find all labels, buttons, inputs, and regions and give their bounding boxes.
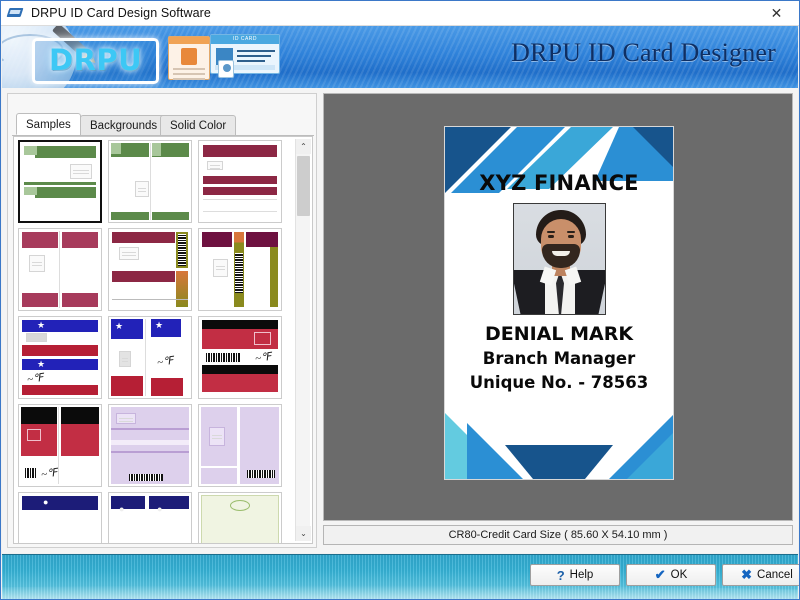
drpu-logo-text: DRPU bbox=[49, 43, 142, 77]
template-browser-panel: Samples Backgrounds Solid Color bbox=[7, 93, 317, 548]
question-mark-icon: ? bbox=[557, 568, 565, 583]
list-item[interactable]: ~℉ bbox=[18, 404, 102, 487]
orange-id-card-icon bbox=[168, 36, 210, 80]
app-banner: DRPU ID CARD DRPU ID Card Designer bbox=[2, 26, 798, 88]
drpu-logo: DRPU bbox=[32, 38, 159, 84]
window-title: DRPU ID Card Design Software bbox=[31, 6, 211, 20]
template-thumbnail-list[interactable]: ★ ★ ~℉ ★ ★ ~℉ bbox=[13, 136, 313, 544]
help-button[interactable]: ? Help bbox=[530, 564, 620, 586]
list-item[interactable] bbox=[108, 228, 192, 311]
title-bar: DRPU ID Card Design Software ✕ bbox=[1, 1, 799, 26]
list-item[interactable] bbox=[198, 404, 282, 487]
list-item[interactable] bbox=[18, 140, 102, 223]
list-item[interactable]: ● bbox=[18, 492, 102, 544]
scrollbar-thumb[interactable] bbox=[297, 156, 310, 216]
help-button-label: Help bbox=[570, 569, 594, 581]
banner-artwork: ID CARD bbox=[168, 34, 280, 82]
person-icon bbox=[218, 60, 234, 78]
tab-solid-color[interactable]: Solid Color bbox=[160, 115, 236, 135]
scroll-up-icon[interactable]: ⌃ bbox=[296, 139, 311, 154]
card-size-status: CR80-Credit Card Size ( 85.60 X 54.10 mm… bbox=[323, 525, 793, 545]
application-window: DRPU ID Card Design Software ✕ DRPU ID C… bbox=[0, 0, 800, 600]
scroll-down-icon[interactable]: ⌄ bbox=[296, 526, 311, 541]
list-item[interactable]: ● ● bbox=[108, 492, 192, 544]
cancel-button[interactable]: ✖ Cancel bbox=[722, 564, 800, 586]
card-holder-name: DENIAL MARK bbox=[445, 323, 673, 345]
id-card-preview[interactable]: XYZ FINANCE DENIAL MARK Branch Manager bbox=[445, 127, 673, 479]
cross-icon: ✖ bbox=[741, 567, 752, 583]
check-icon: ✔ bbox=[655, 567, 666, 583]
ok-button[interactable]: ✔ OK bbox=[626, 564, 716, 586]
card-organization: XYZ FINANCE bbox=[445, 171, 673, 195]
card-preview-panel: XYZ FINANCE DENIAL MARK Branch Manager bbox=[323, 93, 793, 521]
template-tabs: Samples Backgrounds Solid Color bbox=[12, 116, 314, 136]
footer-bar: ? Help ✔ OK ✖ Cancel bbox=[2, 554, 798, 599]
list-item[interactable] bbox=[198, 228, 282, 311]
tab-samples[interactable]: Samples bbox=[16, 113, 81, 135]
tab-backgrounds[interactable]: Backgrounds bbox=[80, 115, 167, 135]
list-item[interactable] bbox=[108, 140, 192, 223]
list-item[interactable] bbox=[108, 404, 192, 487]
list-item[interactable] bbox=[198, 492, 282, 544]
list-item[interactable]: ★ ★ ~℉ bbox=[18, 316, 102, 399]
card-photo bbox=[513, 203, 606, 315]
close-icon[interactable]: ✕ bbox=[754, 1, 799, 25]
card-unique-no: Unique No. - 78563 bbox=[445, 373, 673, 392]
list-item[interactable] bbox=[198, 140, 282, 223]
list-item[interactable]: ★ ★ ~℉ bbox=[108, 316, 192, 399]
app-logo-icon bbox=[8, 5, 24, 21]
list-item[interactable]: ~℉ bbox=[198, 316, 282, 399]
banner-heading: DRPU ID Card Designer bbox=[511, 38, 776, 68]
main-body: Samples Backgrounds Solid Color bbox=[2, 88, 798, 553]
list-item[interactable] bbox=[18, 228, 102, 311]
template-list-scrollbar[interactable]: ⌃ ⌄ bbox=[295, 139, 310, 541]
id-card-badge-label: ID CARD bbox=[211, 35, 279, 44]
cancel-button-label: Cancel bbox=[757, 569, 793, 581]
ok-button-label: OK bbox=[671, 569, 688, 581]
card-designation: Branch Manager bbox=[445, 349, 673, 368]
